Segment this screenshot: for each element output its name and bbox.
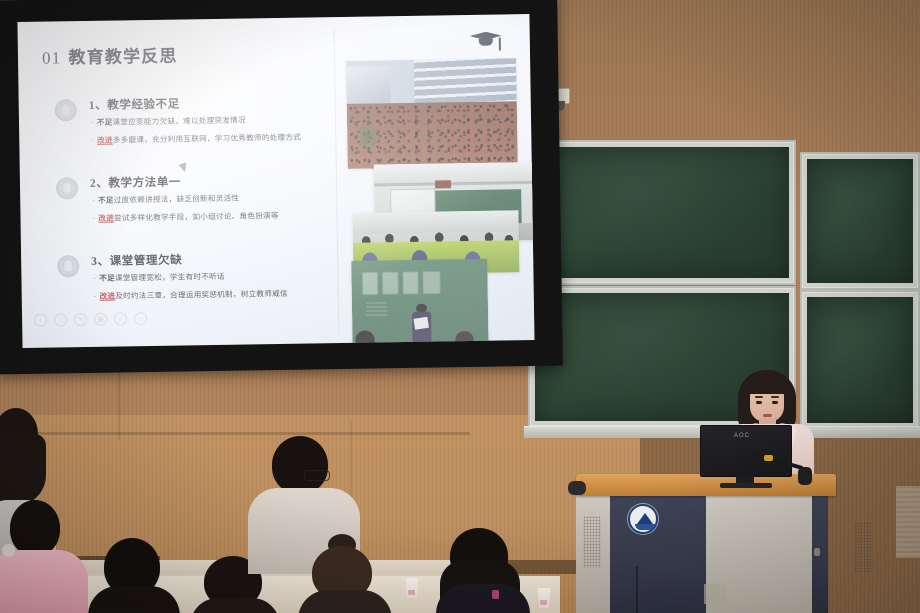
- wall-seam: [0, 432, 470, 435]
- section-bullet: ·改进及时约法三章，合理运用奖惩机制，树立教师威信: [94, 288, 288, 302]
- bullet-text: 过度依赖讲授法，缺乏创新和灵活性: [114, 194, 240, 205]
- prev-slide-icon[interactable]: ‹: [34, 314, 47, 327]
- bullet-dot-icon: ·: [91, 136, 94, 145]
- bullet-text: 课堂管理宽松，学生有时不听话: [115, 272, 225, 283]
- audience-member: [94, 538, 172, 613]
- monitor-brand-label: AOC: [734, 433, 750, 439]
- lectern: [576, 474, 836, 613]
- section-badge-icon: [56, 177, 78, 199]
- section-heading: 3、课堂管理欠缺: [91, 251, 182, 268]
- slide-section: 3、课堂管理欠缺 ·不足课堂管理宽松，学生有时不听话 ·改进及时约法三章，合理运…: [57, 249, 333, 253]
- next-slide-icon[interactable]: ›: [54, 313, 67, 326]
- chalkboard-panel: [800, 152, 920, 290]
- more-options-icon[interactable]: ⋯: [134, 312, 147, 325]
- slide-title: 01教育教学反思: [42, 42, 178, 69]
- bullet-tag: 不足: [99, 274, 115, 283]
- slide-photo-chalkboard-presentation: [351, 259, 489, 348]
- bullet-dot-icon: ·: [91, 118, 94, 127]
- bullet-dot-icon: ·: [92, 214, 95, 223]
- bullet-tag: 改进: [98, 214, 114, 223]
- graduation-cap-icon: [470, 28, 504, 55]
- bullet-tag: 不足: [98, 196, 114, 205]
- bullet-text: 及时约法三章，合理运用奖惩机制，树立教师威信: [115, 289, 288, 301]
- chalkboard-panel: [800, 290, 920, 430]
- school-crest-icon: [628, 504, 658, 534]
- highlight-icon[interactable]: ▣: [94, 313, 107, 326]
- section-bullet: ·改进多多磨课，充分利用互联网，学习优秀教师的处理方式: [91, 132, 301, 146]
- bullet-dot-icon: ·: [92, 196, 95, 205]
- bullet-dot-icon: ·: [93, 274, 96, 283]
- section-heading: 1、教学经验不足: [89, 96, 180, 113]
- section-bullet: ·不足过度依赖讲授法，缺乏创新和灵活性: [92, 193, 239, 206]
- bullet-dot-icon: ·: [94, 292, 97, 301]
- audience-member: [0, 500, 82, 613]
- mouse-cursor-icon: [179, 162, 189, 173]
- lectern-monitor[interactable]: AOC: [700, 425, 792, 489]
- bullet-tag: 不足: [97, 118, 113, 127]
- slide-section: 1、教学经验不足 ·不足课堂应变能力欠缺，难以处理突发情况 ·改进多多磨课，充分…: [55, 93, 331, 97]
- pen-icon[interactable]: ✎: [74, 313, 87, 326]
- presenter-controls[interactable]: ‹ › ✎ ▣ ⌕ ⋯: [34, 312, 147, 327]
- section-bullet: ·改进尝试多样化教学手段，如小组讨论、角色扮演等: [92, 210, 278, 224]
- mic-base: [568, 481, 586, 495]
- bullet-tag: 改进: [97, 136, 113, 145]
- section-heading: 2、教学方法单一: [90, 174, 181, 191]
- bullet-text: 尝试多样化教学手段，如小组讨论、角色扮演等: [114, 211, 279, 223]
- section-badge-icon: [55, 99, 77, 121]
- slide-photo-aerial-courtyard: [346, 58, 518, 169]
- chalkboard-panel: [528, 140, 796, 285]
- presentation-slide: 01教育教学反思 1、教学经验不足 ·不足课堂应变能力欠缺，难以处理突发情况 ·…: [17, 14, 534, 348]
- microphone-head: [798, 467, 812, 485]
- projection-screen: 01教育教学反思 1、教学经验不足 ·不足课堂应变能力欠缺，难以处理突发情况 ·…: [0, 0, 563, 374]
- slide-section: 2、教学方法单一 ·不足过度依赖讲授法，缺乏创新和灵活性 ·改进尝试多样化教学手…: [56, 171, 332, 175]
- wall-vent: [896, 486, 920, 558]
- audience-member: [302, 540, 386, 613]
- eyeglasses-icon: [304, 470, 330, 481]
- slide-title-number: 01: [42, 48, 62, 67]
- section-bullet: ·不足课堂管理宽松，学生有时不听话: [93, 271, 224, 284]
- zoom-icon[interactable]: ⌕: [114, 312, 127, 325]
- bullet-tag: 改进: [99, 292, 115, 301]
- section-bullet: ·不足课堂应变能力欠缺，难以处理突发情况: [91, 114, 246, 127]
- slide-title-text: 教育教学反思: [68, 47, 177, 68]
- lecture-hall-scene: 01教育教学反思 1、教学经验不足 ·不足课堂应变能力欠缺，难以处理突发情况 ·…: [0, 0, 920, 613]
- microphone-tip: [764, 455, 773, 461]
- section-badge-icon: [57, 255, 79, 277]
- slide-divider: [334, 27, 340, 335]
- bullet-text: 多多磨课，充分利用互联网，学习优秀教师的处理方式: [113, 133, 301, 145]
- bullet-text: 课堂应变能力欠缺，难以处理突发情况: [112, 115, 245, 126]
- audience-member: [436, 528, 528, 613]
